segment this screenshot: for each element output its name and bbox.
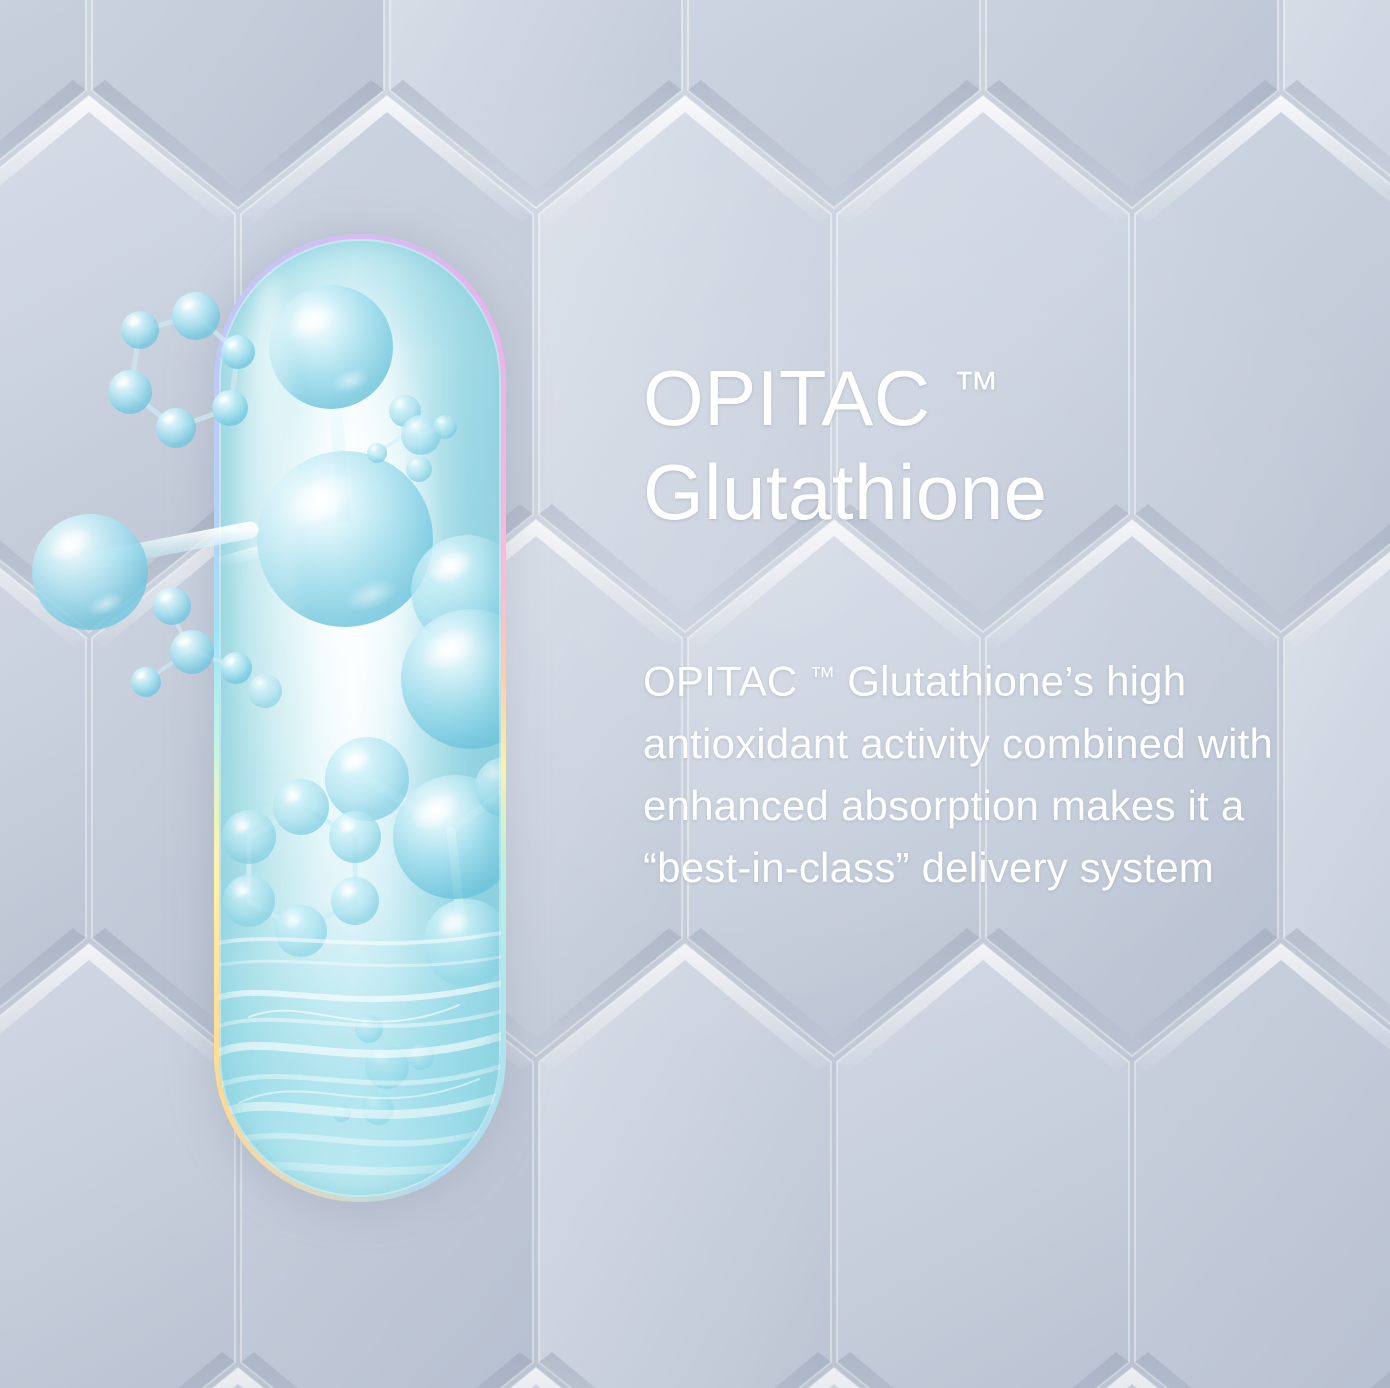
trademark-icon: ™ <box>953 362 1000 414</box>
headline-brand: OPITAC <box>643 354 931 442</box>
headline-line-1: OPITAC ™ <box>643 352 1343 446</box>
trademark-icon-body: ™ <box>809 661 835 691</box>
page-title: OPITAC ™ Glutathione <box>643 352 1343 539</box>
text-panel: OPITAC ™ Glutathione OPITAC ™ Glutathion… <box>643 352 1343 941</box>
body-copy: OPITAC ™ Glutathione’s high antioxidant … <box>643 645 1303 898</box>
capsule-body <box>219 239 501 1197</box>
headline-line-2: Glutathione <box>643 446 1343 540</box>
body-brand: OPITAC <box>643 658 797 705</box>
promo-banner: OPITAC ™ Glutathione OPITAC ™ Glutathion… <box>0 0 1390 1388</box>
capsule-illustration <box>196 216 520 1216</box>
capsule-inner-rim-light <box>219 239 501 1197</box>
